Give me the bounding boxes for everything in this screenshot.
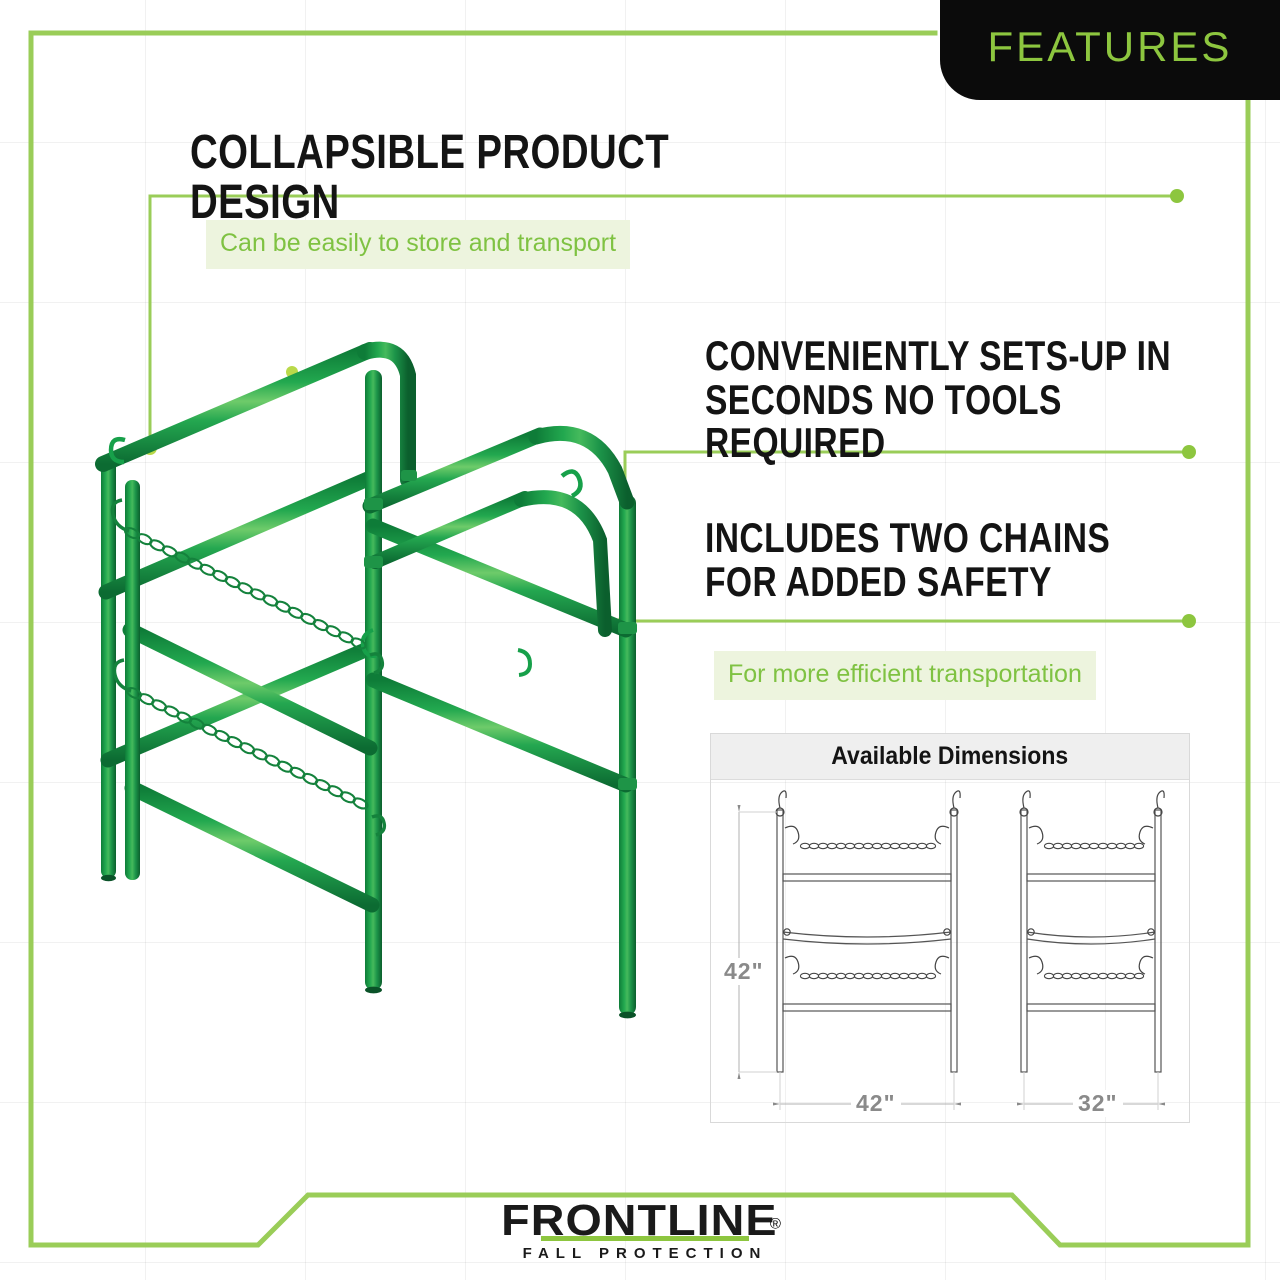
unit2-rail-2-bottom	[1027, 939, 1155, 944]
post-cap-center	[365, 987, 382, 994]
rail-top-rear-left	[103, 350, 370, 464]
unit1-rail-1	[783, 874, 951, 881]
unit2-width-label: 32"	[1073, 1090, 1123, 1117]
brand-logo: FRONTLINE® FALL PROTECTION	[500, 1196, 790, 1262]
joint-collar-5	[401, 470, 417, 481]
unit2-chain-lower-hookL	[1029, 956, 1043, 974]
unit1-rail-2-top	[783, 932, 951, 937]
bracket-hook-right	[562, 471, 580, 496]
dimensions-panel-title: Available Dimensions	[832, 742, 1069, 771]
features-tab: FEATURES	[940, 0, 1280, 100]
feature-subtitle-two-chains: For more efficient transportation	[714, 651, 1096, 700]
unit2-post-right	[1155, 810, 1161, 1072]
unit1-chain-upper-hookL	[785, 826, 799, 844]
logo-wordmark: FRONTLINE	[501, 1196, 777, 1246]
logo-tagline: FALL PROTECTION	[500, 1245, 790, 1262]
joint-collar-2	[364, 556, 383, 568]
unit2-rail-2-top	[1027, 932, 1155, 937]
unit2-chain-upper	[1044, 843, 1143, 848]
feature-heading-two-chains: INCLUDES TWO CHAINS FOR ADDED SAFETY	[705, 516, 1217, 603]
rail-right-lower	[373, 680, 626, 785]
leader-dot-chains-end	[1182, 614, 1196, 628]
unit1-hook-right	[953, 791, 960, 808]
feature-heading-collapsible-design: COLLAPSIBLE PRODUCT DESIGN	[190, 128, 798, 228]
unit1-chain-lower-hookR	[935, 956, 949, 974]
unit1-chain-upper-hookR	[935, 826, 949, 844]
post-cap-back-left	[101, 875, 116, 881]
unit1-rail-2-bottom	[783, 939, 951, 944]
dimensions-panel-body: 42" 42" 32"	[711, 780, 1189, 1124]
unit1-rail-3	[783, 1004, 951, 1011]
joint-collar-1	[364, 498, 383, 510]
unit1-hook-left	[779, 791, 786, 808]
unit2-chain-lower-hookR	[1139, 956, 1153, 974]
unit1-chain-lower	[800, 973, 935, 978]
dimension-unit-42x42	[739, 791, 960, 1110]
unit1-height-label: 42"	[719, 958, 769, 985]
leader-dot-collapsible-end	[1170, 189, 1184, 203]
post-cap-right	[619, 1012, 636, 1019]
unit1-post-right	[951, 810, 957, 1072]
bracket-hook-center-lower	[518, 650, 530, 675]
unit2-chain-upper-hookL	[1029, 826, 1043, 844]
rail-front-left-lower	[132, 788, 372, 905]
unit1-post-left	[777, 810, 783, 1072]
unit1-chain-upper	[800, 843, 935, 848]
post-right	[619, 495, 636, 1015]
unit2-post-left	[1021, 810, 1027, 1072]
unit2-hook-right	[1157, 791, 1164, 808]
unit2-hook-left	[1023, 791, 1030, 808]
product-illustration	[70, 330, 710, 1050]
feature-subtitle-collapsible-design: Can be easily to store and transport	[206, 220, 630, 269]
dimension-drawings	[711, 780, 1189, 1124]
dimensions-panel-header: Available Dimensions	[711, 734, 1189, 780]
joint-collar-4	[618, 778, 637, 790]
features-tab-label: FEATURES	[988, 23, 1233, 71]
unit1-chain-lower-hookL	[785, 956, 799, 974]
infographic-canvas: FEATURES	[0, 0, 1280, 1280]
unit2-chain-upper-hookR	[1139, 826, 1153, 844]
product-frame-geometry	[101, 350, 637, 1019]
unit1-width-label: 42"	[851, 1090, 901, 1117]
available-dimensions-panel: Available Dimensions	[710, 733, 1190, 1123]
feature-heading-quick-setup: CONVENIENTLY SETS-UP IN SECONDS NO TOOLS…	[705, 334, 1217, 465]
joint-collar-3	[618, 622, 637, 634]
logo-wordmark-row: FRONTLINE®	[500, 1196, 790, 1246]
dimension-unit-42x32	[1020, 791, 1164, 1110]
unit2-chain-lower	[1044, 973, 1143, 978]
unit2-rail-3	[1027, 1004, 1155, 1011]
unit2-rail-1	[1027, 874, 1155, 881]
